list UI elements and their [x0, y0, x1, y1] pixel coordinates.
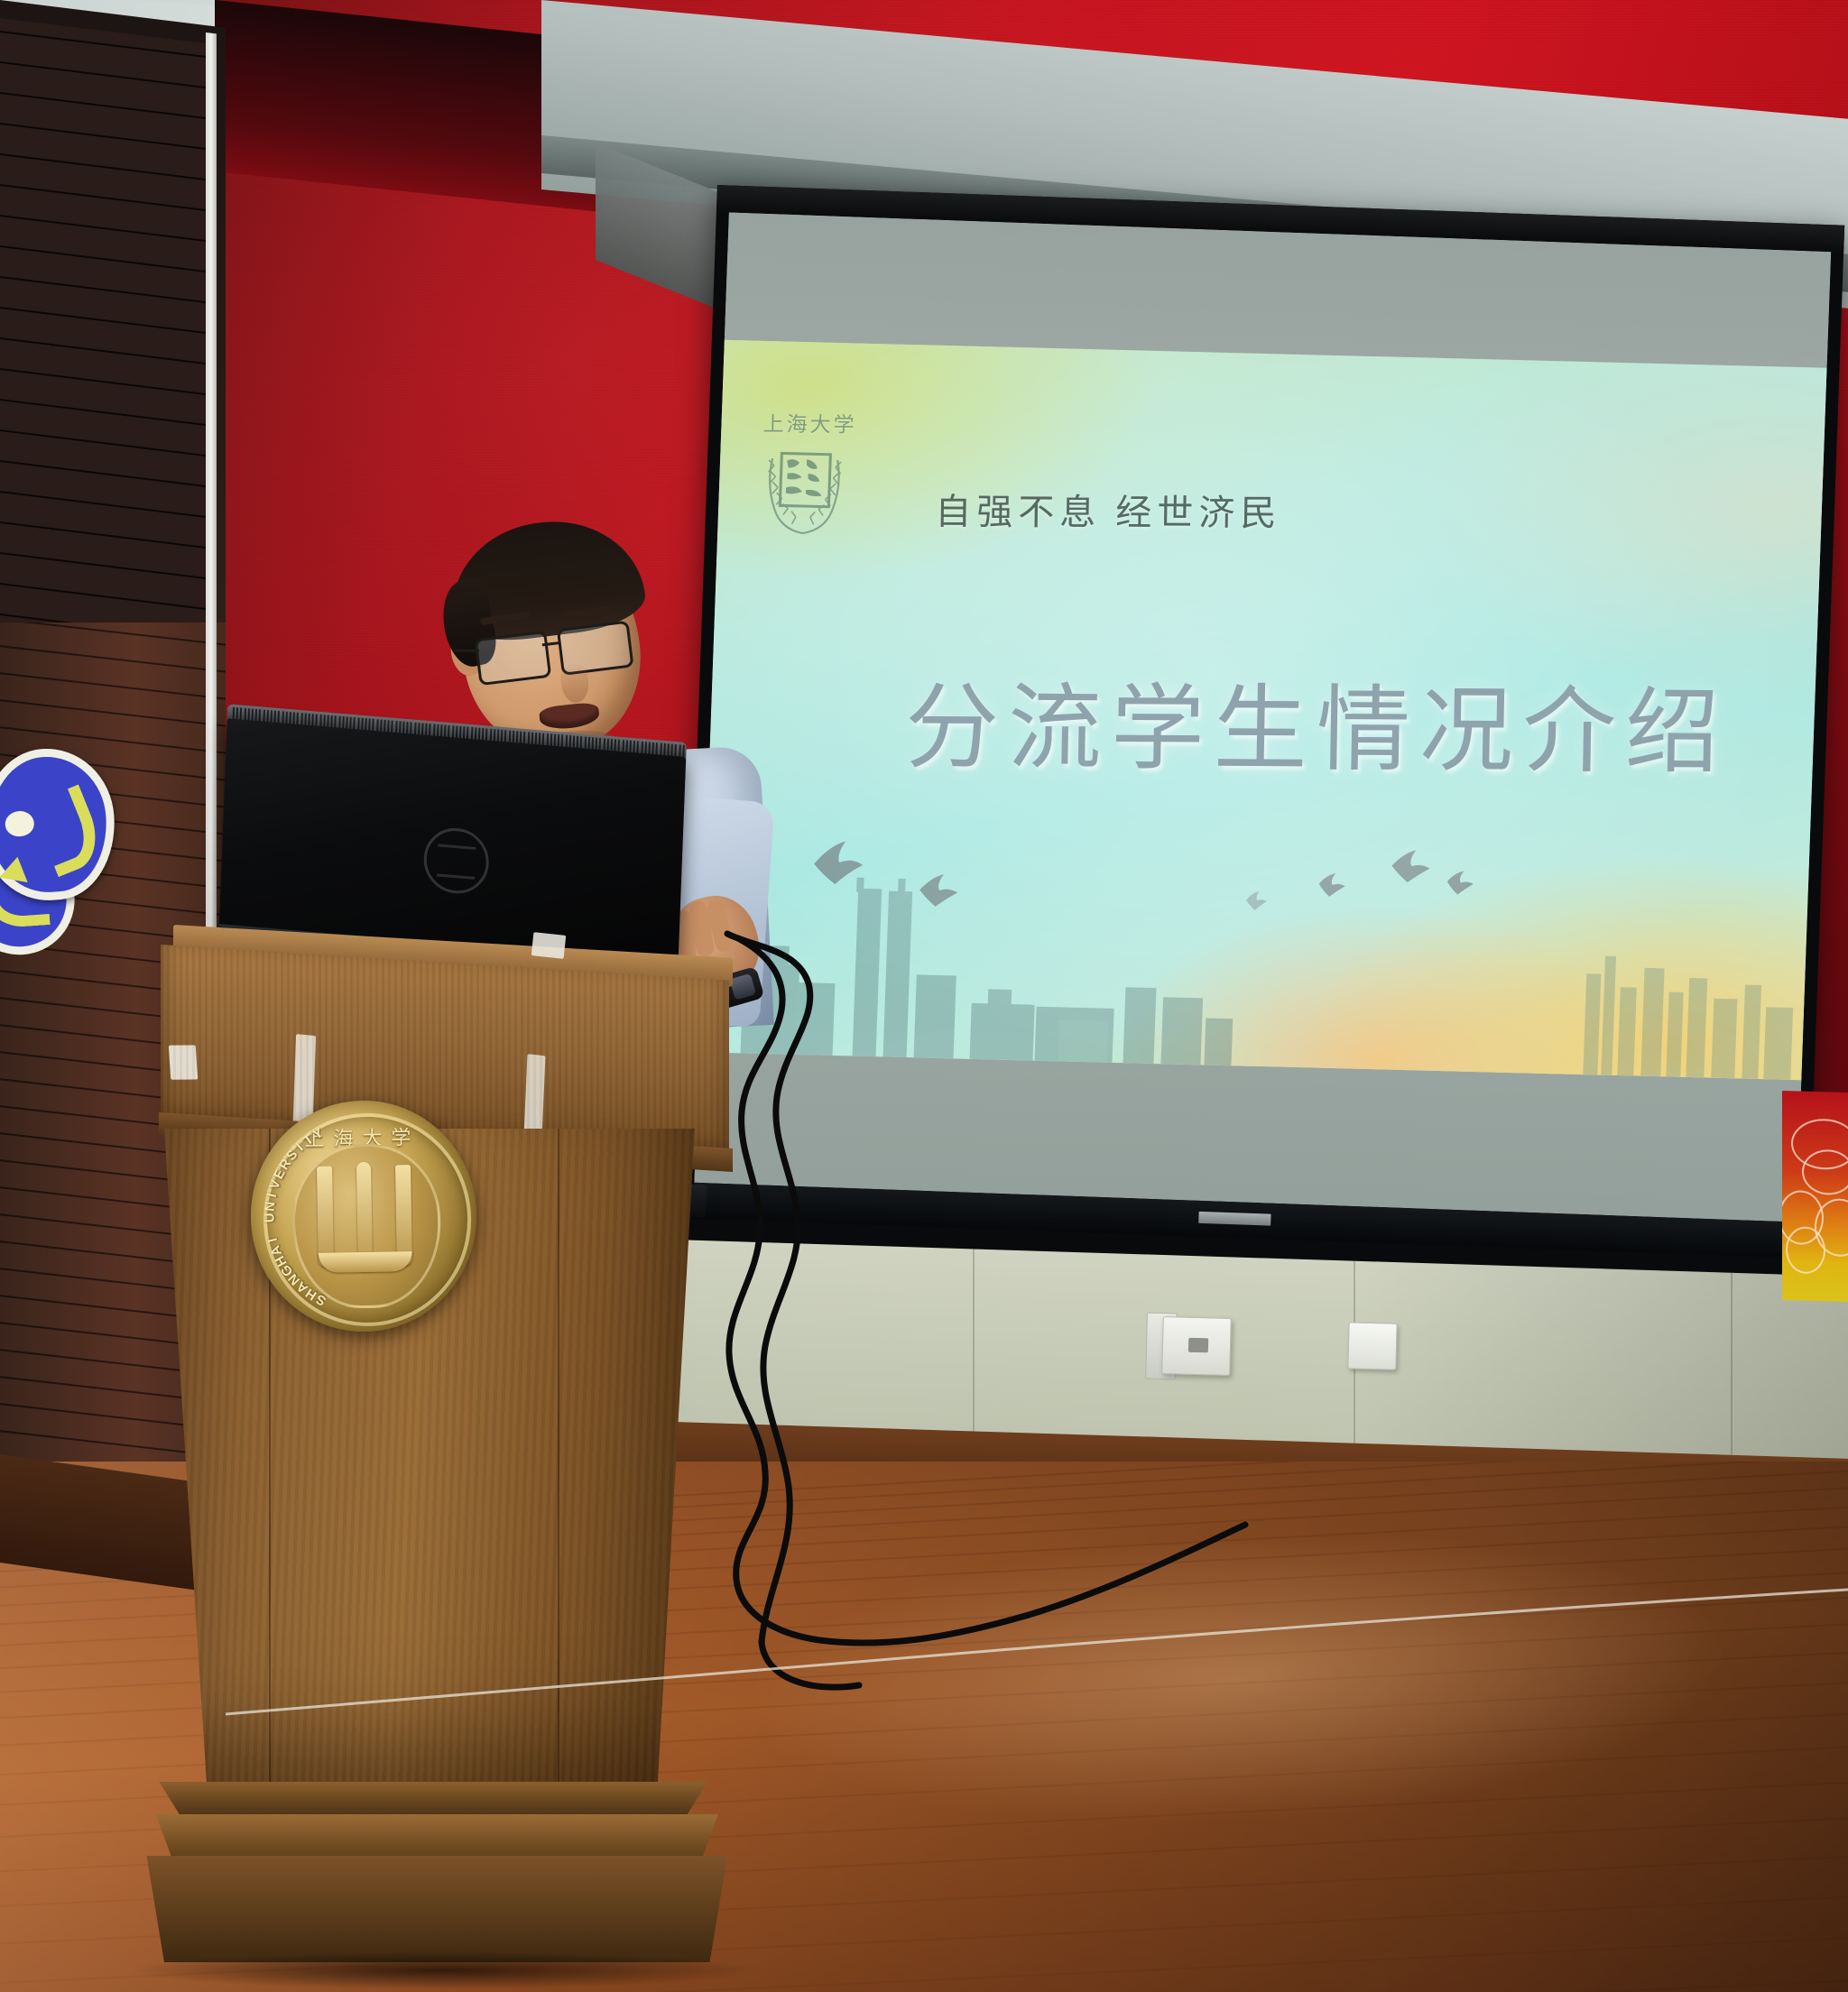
podium-plinth-upper	[148, 1782, 707, 1818]
light-switch[interactable]	[1347, 1322, 1397, 1369]
sticker-curve	[0, 874, 51, 929]
outlet-socket-port	[1188, 1338, 1208, 1353]
decorative-poster	[1782, 1091, 1848, 1302]
university-crest-icon	[761, 435, 847, 536]
sticker-eye	[5, 810, 35, 837]
emblem-english-name: SHANGHAI UNIVERSITY	[249, 1099, 478, 1333]
glasses-temple	[454, 649, 479, 651]
projected-slide: 上海大学	[699, 340, 1827, 1080]
wood-slat-line	[0, 429, 217, 457]
glasses-lens	[475, 631, 552, 686]
slide-motto: 自强不息 经世济民	[935, 483, 1282, 537]
wood-slat-line	[0, 184, 217, 212]
wood-slat-line	[0, 697, 226, 730]
lectern-podium: 上海大学 SHANGHAI UNIVERSITY	[153, 925, 749, 1992]
emblem-letter: I	[264, 1192, 281, 1199]
podium-plinth-lower	[141, 1856, 727, 1962]
wood-slat-line	[0, 491, 217, 519]
wall-panel-joint	[973, 1249, 975, 1443]
cartoon-cutout-decoration	[0, 744, 116, 933]
wood-slat-line	[0, 61, 217, 89]
wood-slat-line	[0, 622, 226, 649]
wood-slat-line	[0, 92, 217, 120]
emblem-letter: I	[265, 1236, 282, 1243]
wood-slat-line	[0, 307, 217, 335]
sticker-main-blob	[0, 744, 120, 905]
wood-slat-line	[0, 643, 226, 676]
wood-slat-line	[0, 153, 217, 181]
wood-slat-line	[0, 670, 226, 703]
wood-slat-line	[0, 583, 217, 611]
tape-mark	[531, 932, 567, 959]
podium-university-emblem: 上海大学 SHANGHAI UNIVERSITY	[249, 1099, 478, 1333]
podium-panel-seam	[558, 1129, 559, 1796]
wood-slat-line	[0, 123, 217, 151]
wood-slat-line	[0, 337, 217, 365]
emblem-letter: U	[262, 1213, 277, 1222]
wall-panel-joint	[1731, 1273, 1732, 1467]
birds-illustration	[703, 808, 1810, 972]
podium-floor-shadow	[126, 1951, 758, 1989]
screen-surface: 上海大学	[694, 212, 1831, 1222]
wood-slat-line	[0, 368, 217, 396]
sticker-smile	[29, 784, 107, 877]
wood-slat-line	[0, 552, 217, 580]
lecture-hall-photo: 上海大学	[0, 0, 1848, 1992]
wood-slat-line	[0, 245, 217, 273]
hp-monitor	[218, 704, 688, 957]
wall-outlet[interactable]	[1161, 1316, 1232, 1376]
poster-line-art	[1786, 1226, 1825, 1274]
slide-title: 分流学生情况介绍	[904, 650, 1730, 792]
wood-slat-line	[0, 460, 217, 488]
wood-slat-line	[0, 276, 217, 304]
screen-brand-plate	[1198, 1212, 1270, 1226]
shanghai-university-logo: 上海大学	[748, 406, 862, 549]
wood-slat-line	[0, 521, 217, 549]
slide-university-name: 上海大学	[762, 407, 857, 438]
wood-slat-line	[0, 215, 217, 243]
emblem-letter: N	[263, 1201, 279, 1213]
floor-reflection	[733, 1508, 1739, 1848]
podium-plinth-middle	[144, 1814, 718, 1861]
wood-slat-line	[0, 399, 217, 427]
poster-line-art	[1802, 1149, 1848, 1196]
tape-mark	[169, 1045, 199, 1079]
projector-screen: 上海大学	[679, 185, 1844, 1298]
